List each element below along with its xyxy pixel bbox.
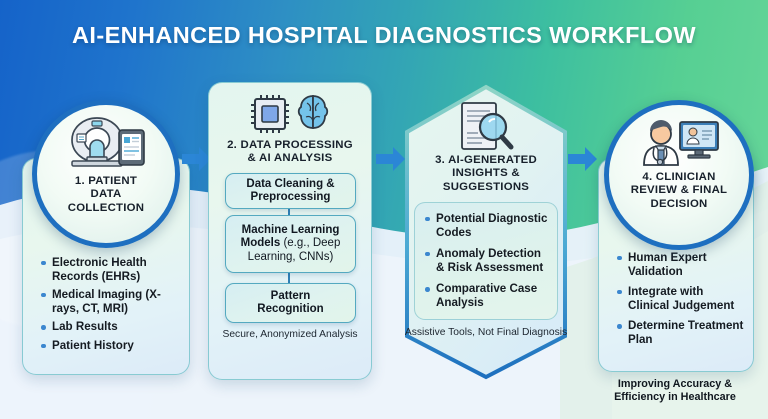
page-title: AI-ENHANCED HOSPITAL DIAGNOSTICS WORKFLO… — [0, 22, 768, 49]
step-2-subbox-3[interactable]: Pattern Recognition — [225, 283, 356, 323]
list-item: Medical Imaging (X-rays, CT, MRI) — [40, 288, 180, 315]
arrow-step2-to-step3 — [376, 144, 406, 174]
step-3-title-line-2: INSIGHTS & — [412, 167, 560, 180]
step-3-title: 3. AI-GENERATED INSIGHTS & SUGGESTIONS — [412, 154, 560, 194]
list-item: Comparative Case Analysis — [424, 282, 548, 309]
step-4-circle[interactable]: 4. CLINICIAN REVIEW & FINAL DECISION — [604, 100, 754, 250]
step-4-title-line-3: DECISION — [631, 198, 728, 211]
list-item: Electronic Health Records (EHRs) — [40, 256, 180, 283]
infographic-canvas: AI-ENHANCED HOSPITAL DIAGNOSTICS WORKFLO… — [0, 0, 768, 419]
subbox-3-line-1: Pattern — [271, 290, 311, 302]
step-2-card: 2. DATA PROCESSING & AI ANALYSIS Data Cl… — [208, 82, 372, 380]
step-4-title-line-2: REVIEW & FINAL — [631, 184, 728, 197]
list-item: Determine Treatment Plan — [616, 319, 746, 346]
list-item: Potential Diagnostic Codes — [424, 212, 548, 239]
list-item: Integrate with Clinical Judgement — [616, 285, 746, 312]
step-3-card: 3. AI-GENERATED INSIGHTS & SUGGESTIONS P… — [404, 84, 568, 380]
step-1-circle[interactable]: 1. PATIENT DATA COLLECTION — [32, 100, 180, 248]
step-2-subbox-2[interactable]: Machine Learning Models (e.g., Deep Lear… — [225, 215, 356, 273]
document-magnifier-icon — [456, 100, 516, 154]
step-4-bullet-list: Human Expert Validation Integrate with C… — [616, 251, 746, 352]
arrow-step3-to-step4 — [568, 144, 598, 174]
subbox-2-line-1: Machine Learning — [242, 224, 340, 236]
step-3-bullet-list: Potential Diagnostic Codes Anomaly Detec… — [424, 212, 548, 310]
step-1-title-line-2: DATA — [68, 188, 145, 201]
step-4-title: 4. CLINICIAN REVIEW & FINAL DECISION — [631, 171, 728, 211]
step-2-subbox-1[interactable]: Data Cleaning & Preprocessing — [225, 173, 356, 209]
list-item: Human Expert Validation — [616, 251, 746, 278]
step-1-title-line-1: 1. PATIENT — [68, 175, 145, 188]
list-item: Anomaly Detection & Risk Assessment — [424, 247, 548, 274]
list-item: Lab Results — [40, 320, 180, 334]
list-item: Patient History — [40, 339, 180, 353]
step-1-bullet-list: Electronic Health Records (EHRs) Medical… — [40, 256, 180, 358]
step-2-caption: Secure, Anonymized Analysis — [209, 329, 371, 341]
step-3-bullet-panel: Potential Diagnostic Codes Anomaly Detec… — [414, 202, 558, 320]
step-1-title: 1. PATIENT DATA COLLECTION — [68, 175, 145, 215]
subbox-1-line-2: Preprocessing — [251, 191, 331, 203]
clinician-monitor-icon — [636, 117, 722, 167]
step-2-title: 2. DATA PROCESSING & AI ANALYSIS — [215, 139, 365, 166]
subbox-2-line-2: Models — [241, 237, 284, 249]
step-3-title-line-3: SUGGESTIONS — [412, 181, 560, 194]
step-2-title-line-1: 2. DATA PROCESSING — [215, 139, 365, 152]
step-4-title-line-1: 4. CLINICIAN — [631, 171, 728, 184]
mri-scanner-tablet-icon — [66, 117, 146, 169]
step-3-caption: Assistive Tools, Not Final Diagnosis — [404, 327, 568, 339]
step-4-caption: Improving Accuracy & Efficiency in Healt… — [598, 378, 752, 404]
step-2-title-line-2: & AI ANALYSIS — [215, 152, 365, 165]
subbox-3-line-2: Recognition — [257, 303, 323, 315]
subbox-1-line-1: Data Cleaning & — [246, 178, 334, 190]
step-1-title-line-3: COLLECTION — [68, 202, 145, 215]
chip-brain-icon — [247, 93, 333, 135]
step-3-title-line-1: 3. AI-GENERATED — [412, 154, 560, 167]
